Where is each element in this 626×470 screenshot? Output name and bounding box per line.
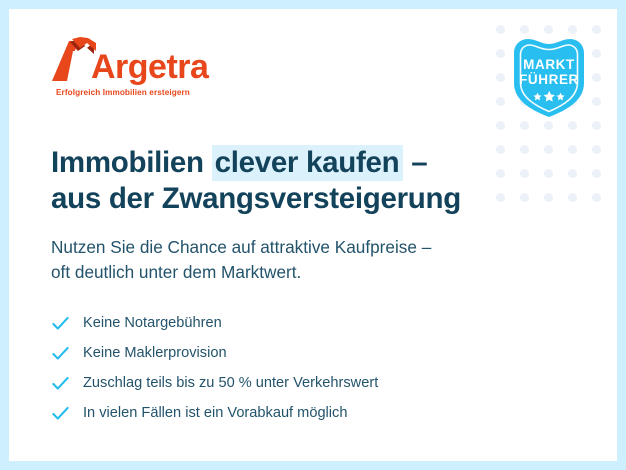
feature-list: Keine NotargebührenKeine Maklerprovision… [51, 309, 617, 429]
subtitle-line-1: Nutzen Sie die Chance auf attraktive Kau… [51, 237, 431, 257]
list-item-label: Zuschlag teils bis zu 50 % unter Verkehr… [83, 375, 378, 393]
headline-line-2: aus der Zwangsversteigerung [51, 182, 461, 215]
market-leader-badge: MARKT FÜHRER [508, 33, 590, 121]
logo-wordmark-row: Argetra [51, 37, 208, 83]
headline-part-2: – [403, 146, 427, 179]
promo-banner: Argetra Erfolgreich Immobilien ersteiger… [0, 0, 626, 470]
decorative-dot [496, 121, 505, 130]
check-icon [51, 314, 70, 333]
list-item-label: Keine Notargebühren [83, 315, 222, 333]
logo-wordmark-text: Argetra [91, 51, 208, 83]
list-item: In vielen Fällen ist ein Vorabkauf mögli… [51, 399, 617, 429]
argetra-roof-mark-icon [51, 37, 97, 83]
check-icon [51, 374, 70, 393]
check-icon [51, 344, 70, 363]
list-item: Keine Notargebühren [51, 309, 617, 339]
list-item: Keine Maklerprovision [51, 339, 617, 369]
subtitle-line-2: oft deutlich unter dem Marktwert. [51, 262, 301, 282]
decorative-dot [592, 121, 601, 130]
decorative-dot [520, 121, 529, 130]
check-icon [51, 404, 70, 423]
banner-canvas: Argetra Erfolgreich Immobilien ersteiger… [9, 9, 617, 461]
page-title: Immobilien clever kaufen – aus der Zwang… [51, 145, 551, 217]
subtitle: Nutzen Sie die Chance auf attraktive Kau… [51, 235, 551, 285]
decorative-dot [568, 121, 577, 130]
headline-part-1: Immobilien [51, 146, 212, 179]
banner-header-row: Argetra Erfolgreich Immobilien ersteiger… [9, 9, 617, 121]
decorative-dot [544, 121, 553, 130]
list-item-label: In vielen Fällen ist ein Vorabkauf mögli… [83, 405, 347, 423]
banner-content: Immobilien clever kaufen – aus der Zwang… [9, 145, 617, 429]
argetra-logo[interactable]: Argetra Erfolgreich Immobilien ersteiger… [51, 33, 208, 97]
logo-tagline: Erfolgreich Immobilien ersteigern [56, 88, 208, 97]
shield-icon [508, 33, 590, 121]
list-item: Zuschlag teils bis zu 50 % unter Verkehr… [51, 369, 617, 399]
list-item-label: Keine Maklerprovision [83, 345, 227, 363]
headline-highlight: clever kaufen [212, 145, 404, 181]
